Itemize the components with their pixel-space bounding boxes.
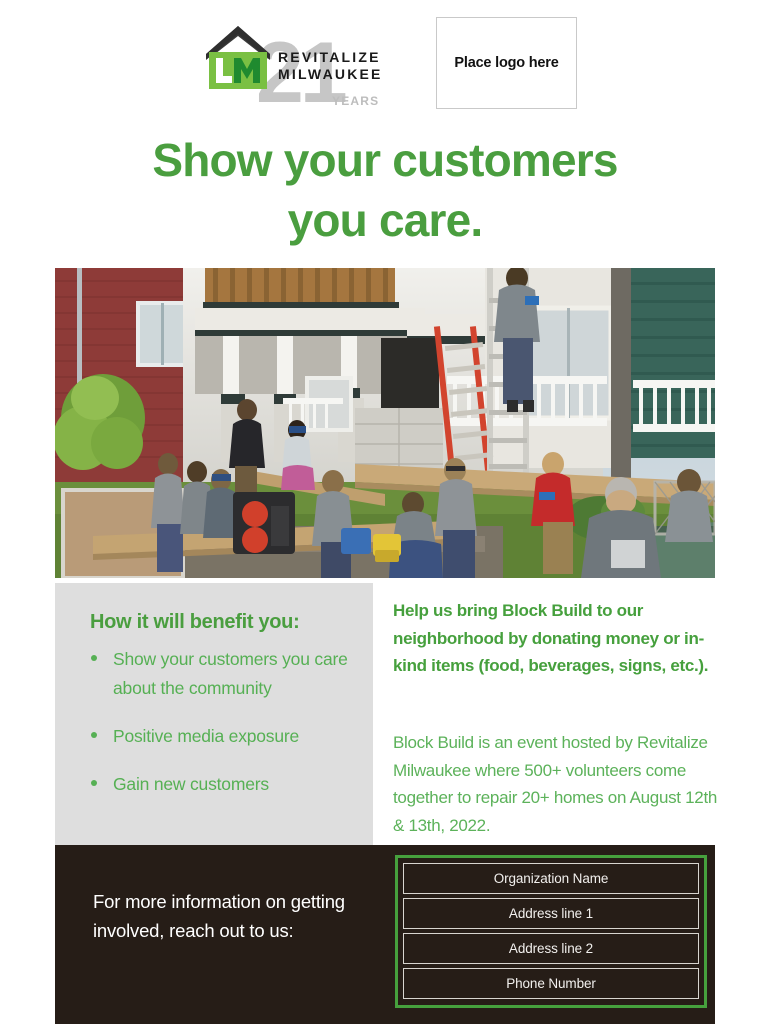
headline-line-1: Show your customers xyxy=(60,131,710,191)
benefits-list: Show your customers you care about the c… xyxy=(87,645,367,818)
flyer-page: 21 REVITALIZE MILWAUKEE YEARS Place xyxy=(0,0,770,1024)
benefit-item-text: Positive media exposure xyxy=(113,726,299,746)
block-build-photo xyxy=(55,268,715,578)
benefit-item-text: Gain new customers xyxy=(113,774,269,794)
benefits-title: How it will benefit you: xyxy=(90,611,360,634)
organization-name-field[interactable]: Organization Name xyxy=(403,863,699,894)
footer-contact-prompt: For more information on getting involved… xyxy=(93,888,363,945)
phone-number-field[interactable]: Phone Number xyxy=(403,968,699,999)
benefit-item-text: Show your customers you care about the c… xyxy=(113,649,348,698)
address-line-2-field[interactable]: Address line 2 xyxy=(403,933,699,964)
svg-text:MILWAUKEE: MILWAUKEE xyxy=(278,66,383,82)
footer: For more information on getting involved… xyxy=(55,845,715,1024)
list-item: Positive media exposure xyxy=(87,722,367,751)
revitalize-milwaukee-logo: 21 REVITALIZE MILWAUKEE YEARS xyxy=(198,14,388,114)
logo-placeholder-label: Place logo here xyxy=(454,55,558,71)
bullet-icon xyxy=(91,655,97,661)
appeal-panel: Help us bring Block Build to our neighbo… xyxy=(393,583,718,845)
headline-line-2: you care. xyxy=(60,191,710,251)
appeal-headline: Help us bring Block Build to our neighbo… xyxy=(393,597,715,680)
svg-text:REVITALIZE: REVITALIZE xyxy=(278,49,381,65)
address-line-1-field[interactable]: Address line 1 xyxy=(403,898,699,929)
page-title: Show your customers you care. xyxy=(60,131,710,251)
svg-text:YEARS: YEARS xyxy=(332,94,379,108)
appeal-body: Block Build is an event hosted by Revita… xyxy=(393,729,718,839)
list-item: Show your customers you care about the c… xyxy=(87,645,367,703)
list-item: Gain new customers xyxy=(87,770,367,799)
benefits-panel: How it will benefit you: Show your custo… xyxy=(55,583,373,845)
header: 21 REVITALIZE MILWAUKEE YEARS Place xyxy=(0,0,770,125)
logo-placeholder-box[interactable]: Place logo here xyxy=(436,17,577,109)
bullet-icon xyxy=(91,780,97,786)
contact-info-box: Organization Name Address line 1 Address… xyxy=(395,855,707,1008)
bullet-icon xyxy=(91,732,97,738)
